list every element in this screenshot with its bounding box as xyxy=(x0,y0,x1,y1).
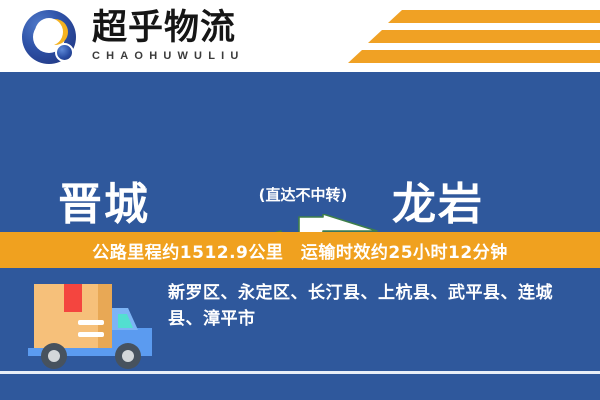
distance-and-duration-text: 公路里程约1512.9公里 运输时效约25小时12分钟 xyxy=(92,238,507,263)
stripe-middle xyxy=(368,30,600,43)
origin-city: 晋城 xyxy=(58,168,150,232)
route-panel: 晋城 (直达不中转) 【往返运输】 龙岩 xyxy=(0,72,600,232)
logo-crescent-cutout xyxy=(35,18,63,46)
stripe-bottom xyxy=(348,50,600,63)
header-stripes-decoration xyxy=(340,8,600,64)
coverage-panel: 新罗区、永定区、长汀县、上杭县、武平县、连城县、漳平市 xyxy=(0,268,600,400)
banner-header: 超乎物流 CHAOHUWULIU xyxy=(0,0,600,72)
brand-block: 超乎物流 CHAOHUWULIU xyxy=(92,8,272,62)
destination-city: 龙岩 xyxy=(392,168,484,232)
chaohu-logistics-logo-icon xyxy=(22,10,76,64)
stripe-top xyxy=(388,10,600,23)
coverage-areas-text: 新罗区、永定区、长汀县、上杭县、武平县、连城县、漳平市 xyxy=(168,280,580,332)
logo-accent-dot xyxy=(55,43,74,62)
delivery-truck-icon xyxy=(24,276,156,374)
logistics-route-banner: 超乎物流 CHAOHUWULIU 晋城 (直达不中转) 【往返运输】 xyxy=(0,0,600,400)
route-note-direct: (直达不中转) xyxy=(228,184,378,205)
brand-name: 超乎物流 xyxy=(92,8,272,48)
route-info-bar: 公路里程约1512.9公里 运输时效约25小时12分钟 xyxy=(0,232,600,268)
brand-pinyin: CHAOHUWULIU xyxy=(92,50,272,62)
